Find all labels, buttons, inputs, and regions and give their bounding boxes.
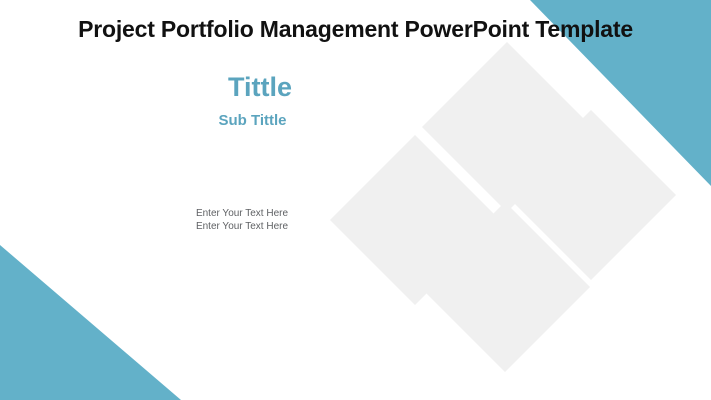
heading-subtitle: Sub Tittle	[155, 112, 350, 130]
heading-title: Tittle	[155, 72, 365, 102]
text-layer: Project Portfolio Management PowerPoint …	[0, 0, 711, 400]
body-text-line-2: Enter Your Text Here	[142, 221, 342, 234]
slide-canvas: Project Portfolio Management PowerPoint …	[0, 0, 711, 400]
body-text-line-1: Enter Your Text Here	[142, 208, 342, 221]
body-text-block: Enter Your Text Here Enter Your Text Her…	[142, 208, 342, 233]
page-title: Project Portfolio Management PowerPoint …	[0, 16, 711, 43]
